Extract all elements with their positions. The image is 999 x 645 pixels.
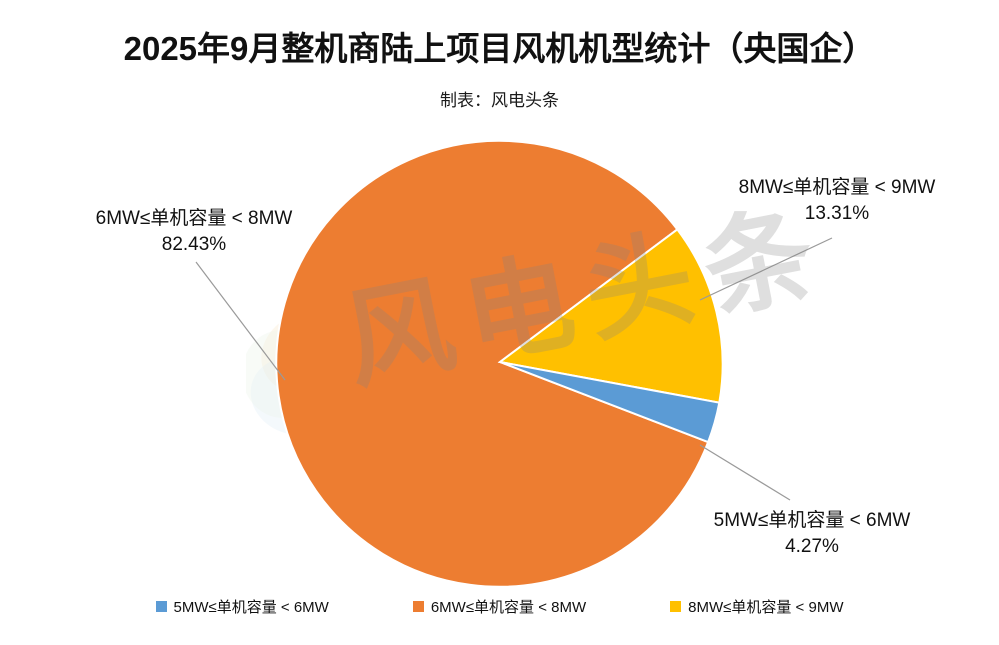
pie-label-6-8mw: 6MW≤单机容量 < 8MW 82.43%	[54, 206, 334, 257]
legend-item-5-6mw[interactable]: 5MW≤单机容量 < 6MW	[156, 596, 329, 617]
leader-line-5-6mw	[700, 445, 790, 500]
leader-line-6-8mw	[196, 262, 285, 380]
pie-label-5-6mw-percent: 4.27%	[672, 534, 952, 560]
pie-label-6-8mw-percent: 82.43%	[54, 232, 334, 258]
pie-label-5-6mw-title: 5MW≤单机容量 < 6MW	[714, 510, 911, 531]
pie-label-8-9mw: 8MW≤单机容量 < 9MW 13.31%	[700, 175, 974, 226]
legend-label-8-9mw: 8MW≤单机容量 < 9MW	[688, 596, 843, 617]
legend-label-5-6mw: 5MW≤单机容量 < 6MW	[174, 596, 329, 617]
legend-label-6-8mw: 6MW≤单机容量 < 8MW	[431, 596, 586, 617]
legend-item-6-8mw[interactable]: 6MW≤单机容量 < 8MW	[413, 596, 586, 617]
legend-swatch-6-8mw	[413, 601, 424, 612]
pie-label-6-8mw-title: 6MW≤单机容量 < 8MW	[96, 208, 293, 229]
pie-label-8-9mw-percent: 13.31%	[700, 201, 974, 227]
legend-swatch-8-9mw	[670, 601, 681, 612]
legend-swatch-5-6mw	[156, 601, 167, 612]
chart-page: 2025年9月整机商陆上项目风机机型统计（央国企） 制表：风电头条	[0, 0, 999, 645]
pie-label-5-6mw: 5MW≤单机容量 < 6MW 4.27%	[672, 508, 952, 559]
legend-item-8-9mw[interactable]: 8MW≤单机容量 < 9MW	[670, 596, 843, 617]
pie-chart-plot-area: 风电头条 6MW≤单机容量 < 8MW 82.43% 8MW≤单机容量 < 9M…	[0, 0, 999, 645]
leader-line-8-9mw	[700, 238, 832, 300]
chart-legend: 5MW≤单机容量 < 6MW 6MW≤单机容量 < 8MW 8MW≤单机容量 <…	[0, 596, 999, 617]
pie-label-8-9mw-title: 8MW≤单机容量 < 9MW	[739, 177, 936, 198]
